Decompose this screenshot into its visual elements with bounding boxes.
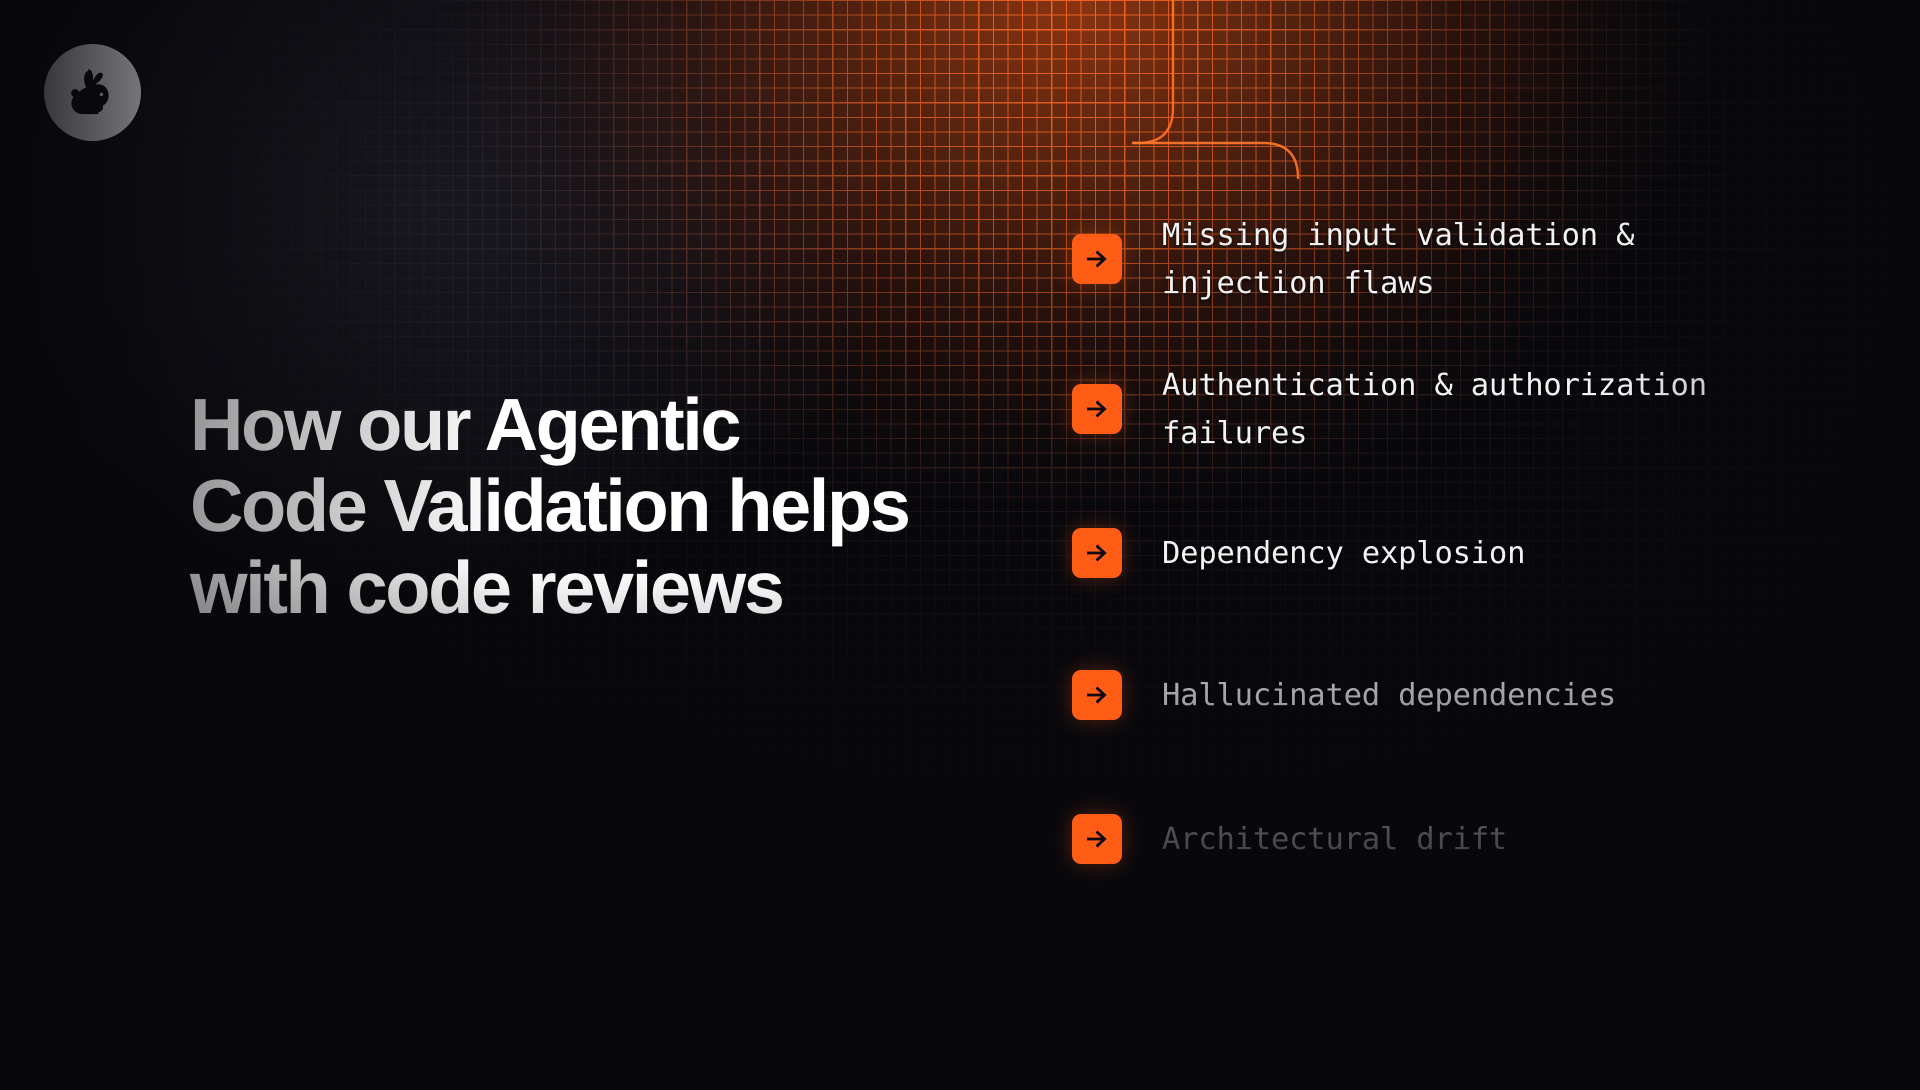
arrow-badge[interactable] — [1072, 528, 1122, 578]
arrow-badge[interactable] — [1072, 384, 1122, 434]
arrow-badge[interactable] — [1072, 234, 1122, 284]
rabbit-logo-icon — [64, 64, 122, 122]
list-item-label: Missing input validation & injection fla… — [1162, 212, 1902, 308]
list-item-label: Dependency explosion — [1162, 530, 1902, 578]
list-item-label: Architectural drift — [1162, 816, 1902, 864]
brand-logo[interactable] — [44, 44, 141, 141]
arrow-right-icon — [1084, 682, 1110, 708]
arrow-right-icon — [1084, 396, 1110, 422]
arrow-right-icon — [1084, 540, 1110, 566]
page-title: How our Agentic Code Validation helps wi… — [190, 384, 1010, 628]
arrow-right-icon — [1084, 246, 1110, 272]
arrow-right-icon — [1084, 826, 1110, 852]
arrow-badge[interactable] — [1072, 670, 1122, 720]
list-item-label: Hallucinated dependencies — [1162, 672, 1902, 720]
slide-canvas: How our Agentic Code Validation helps wi… — [0, 0, 1920, 1090]
list-item-label: Authentication & authorization failures — [1162, 362, 1902, 458]
arrow-badge[interactable] — [1072, 814, 1122, 864]
